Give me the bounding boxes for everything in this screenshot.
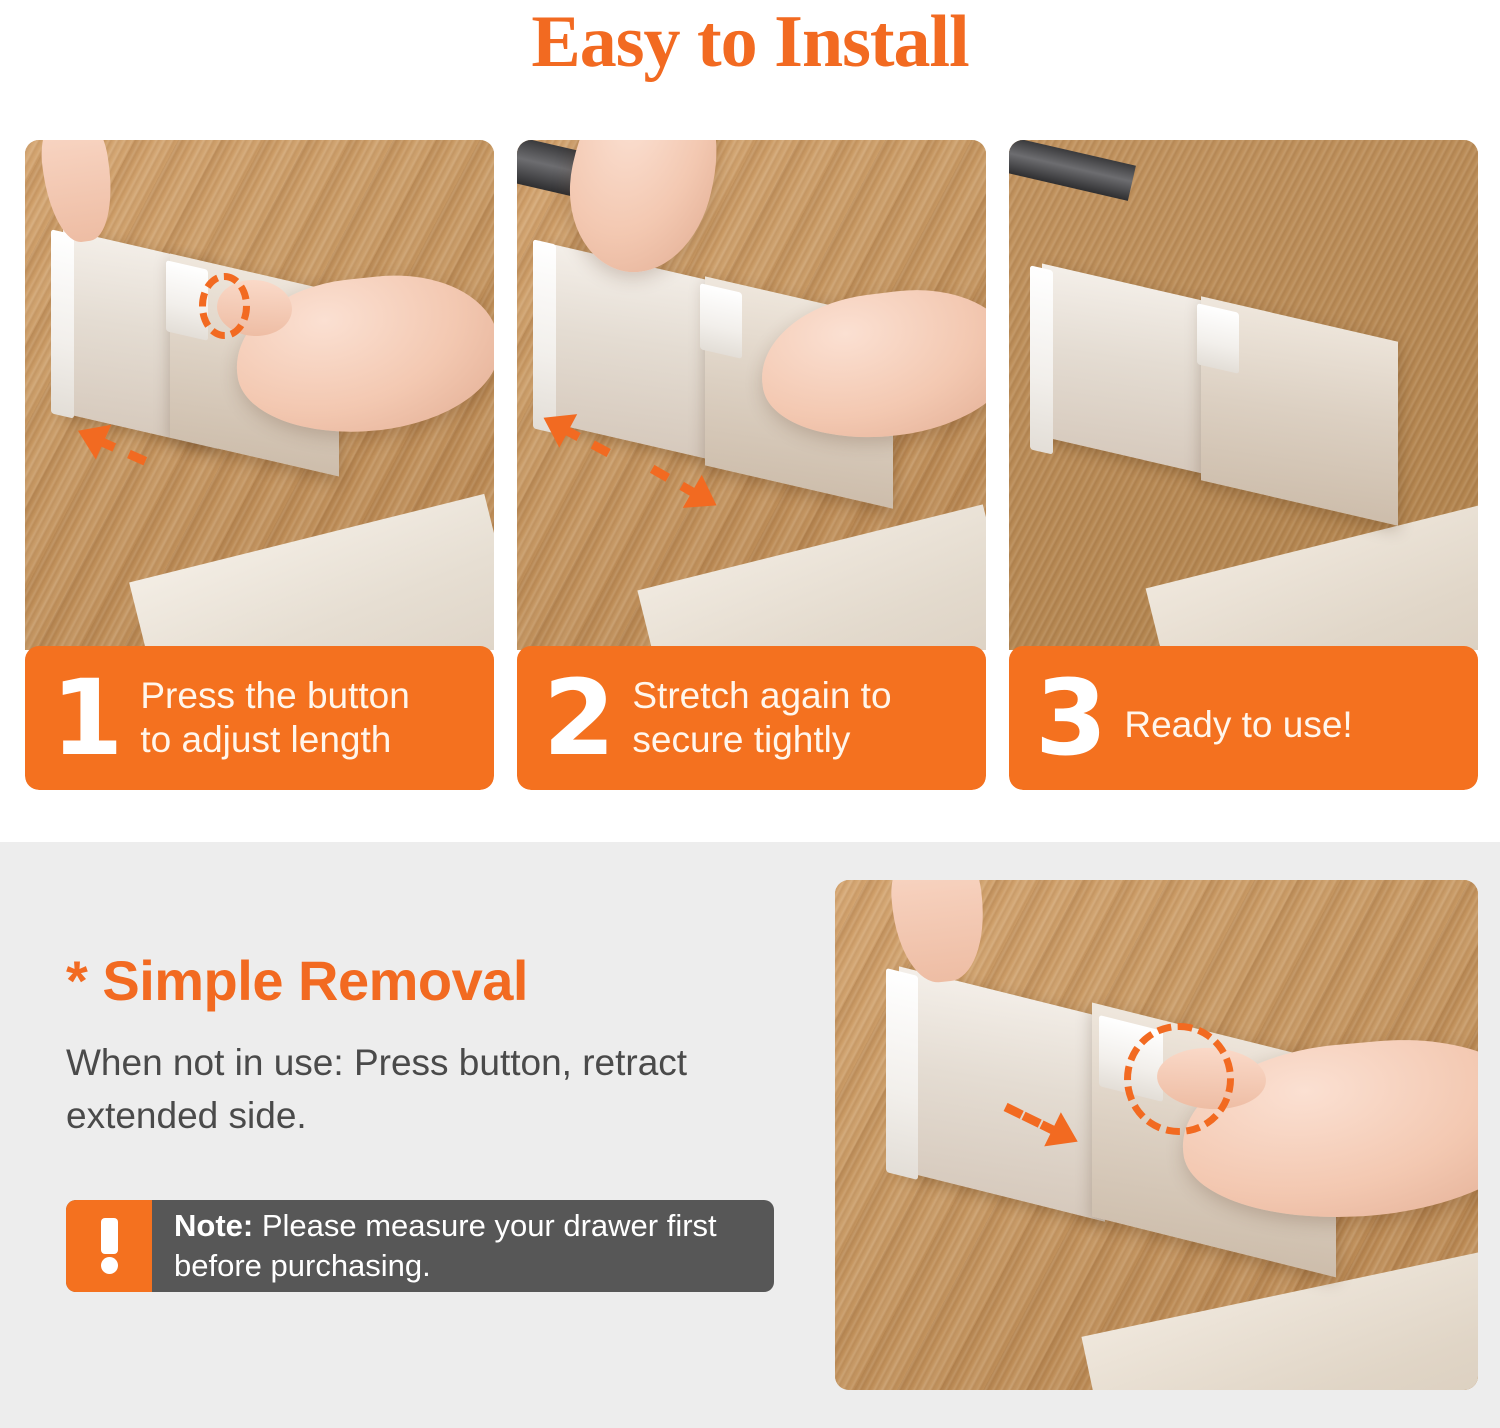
step-3-text-line1: Ready to use! (1124, 703, 1352, 747)
step-card-1: 1 Press the button to adjust length (25, 140, 494, 790)
button-highlight-circle (199, 273, 251, 339)
steps-row: 1 Press the button to adjust length (25, 140, 1478, 790)
note-label: Note: (174, 1208, 253, 1243)
divider-left-cap (51, 229, 74, 418)
step-card-2: 2 Stretch again to secure tightly (517, 140, 986, 790)
removal-photo (835, 880, 1478, 1390)
divider-lock-button (700, 283, 742, 359)
step-2-caption: 2 Stretch again to secure tightly (517, 646, 986, 790)
divider-lock-button (1197, 303, 1239, 374)
step-1-text: Press the button to adjust length (140, 674, 409, 761)
step-1-caption: 1 Press the button to adjust length (25, 646, 494, 790)
install-steps-section: Easy to Install (0, 0, 1500, 842)
note-box: Note: Please measure your drawer first b… (66, 1200, 774, 1292)
step-2-text-line2: secure tightly (632, 718, 891, 762)
step-2-text-line1: Stretch again to (632, 674, 891, 718)
step-1-text-line1: Press the button (140, 674, 409, 718)
step-2-text: Stretch again to secure tightly (632, 674, 891, 761)
step-2-number: 2 (543, 666, 612, 770)
button-highlight-circle (1124, 1023, 1233, 1135)
exclamation-icon (66, 1200, 152, 1292)
step-card-3: 3 Ready to use! (1009, 140, 1478, 790)
divider-left-cap (1030, 265, 1053, 454)
removal-title: * Simple Removal (66, 948, 528, 1013)
step-3-caption: 3 Ready to use! (1009, 646, 1478, 790)
divider-left-cap (886, 968, 918, 1180)
step-1-text-line2: to adjust length (140, 718, 409, 762)
step-3-number: 3 (1035, 666, 1104, 770)
step-1-photo (25, 140, 494, 650)
page-title: Easy to Install (0, 4, 1500, 82)
simple-removal-section: * Simple Removal When not in use: Press … (0, 842, 1500, 1428)
step-3-text: Ready to use! (1124, 689, 1352, 747)
step-2-photo (517, 140, 986, 650)
note-body: Please measure your drawer first before … (174, 1208, 717, 1283)
step-1-number: 1 (51, 666, 120, 770)
removal-body-text: When not in use: Press button, retract e… (66, 1037, 806, 1142)
note-text: Note: Please measure your drawer first b… (152, 1200, 774, 1292)
step-3-photo (1009, 140, 1478, 650)
